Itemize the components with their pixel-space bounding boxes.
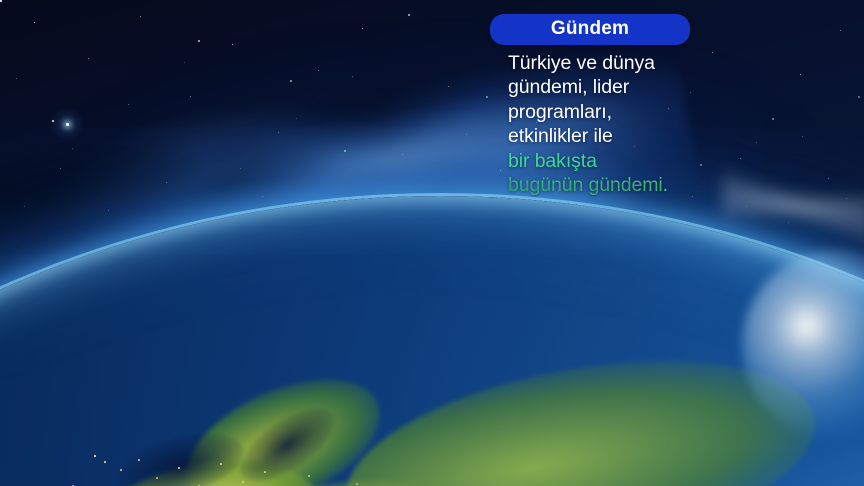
- headline-line-4: etkinlikler ile: [508, 124, 850, 149]
- headline-line-1: Türkiye ve dünya: [508, 51, 850, 76]
- text-panel: Gündem Türkiye ve dünya gündemi, lider p…: [490, 14, 850, 198]
- earth-globe: [0, 196, 864, 486]
- headline-block: Türkiye ve dünya gündemi, lider programl…: [490, 51, 850, 198]
- headline-line-5: bir bakışta: [508, 149, 850, 174]
- headline-line-6: bugünün gündemi.: [508, 173, 850, 198]
- headline-line-2: gündemi, lider: [508, 75, 850, 100]
- gundem-badge[interactable]: Gündem: [490, 14, 690, 45]
- promo-banner: Gündem Türkiye ve dünya gündemi, lider p…: [0, 0, 864, 486]
- headline-line-3: programları,: [508, 100, 850, 125]
- bright-star: [66, 123, 69, 126]
